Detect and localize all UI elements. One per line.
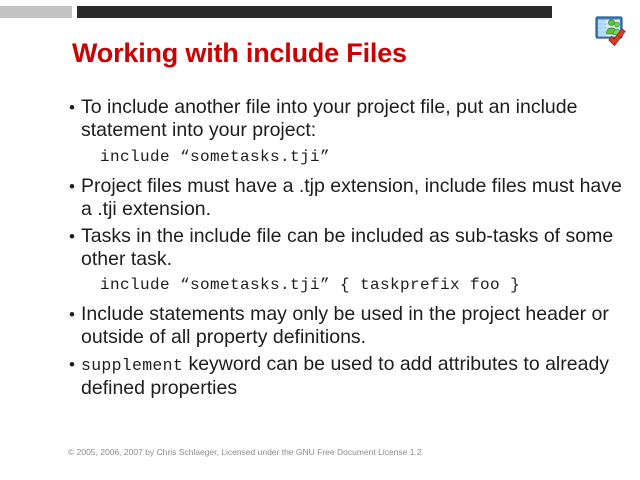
bullet-marker-icon: •: [64, 175, 81, 198]
header-decoration-bars: [0, 0, 640, 22]
list-item: • Project files must have a .tjp extensi…: [64, 175, 624, 221]
list-item-text: supplement keyword can be used to add at…: [81, 353, 624, 400]
slide-content: • To include another file into your proj…: [64, 96, 624, 404]
code-snippet: include “sometasks.tji” { taskprefix foo…: [100, 274, 624, 296]
header-bar-gray: [0, 6, 72, 18]
bullet-marker-icon: •: [64, 96, 81, 119]
keyword-token: supplement: [81, 356, 183, 375]
list-item: • Tasks in the include file can be inclu…: [64, 225, 624, 271]
copyright-footer: © 2005, 2006, 2007 by Chris Schlaeger, L…: [68, 447, 422, 457]
bullet-marker-icon: •: [64, 353, 81, 376]
code-snippet: include “sometasks.tji”: [100, 146, 624, 168]
list-item: • Include statements may only be used in…: [64, 303, 624, 349]
list-item-text: To include another file into your projec…: [81, 96, 624, 142]
page-title: Working with include Files: [72, 38, 407, 69]
window-people-checkmark-icon: [594, 14, 628, 48]
header-bar-black: [77, 6, 552, 18]
list-item-text: Tasks in the include file can be include…: [81, 225, 624, 271]
bullet-marker-icon: •: [64, 303, 81, 326]
list-item-text: Include statements may only be used in t…: [81, 303, 624, 349]
list-item: • To include another file into your proj…: [64, 96, 624, 142]
list-item: • supplement keyword can be used to add …: [64, 353, 624, 400]
bullet-marker-icon: •: [64, 225, 81, 248]
list-item-text: Project files must have a .tjp extension…: [81, 175, 624, 221]
